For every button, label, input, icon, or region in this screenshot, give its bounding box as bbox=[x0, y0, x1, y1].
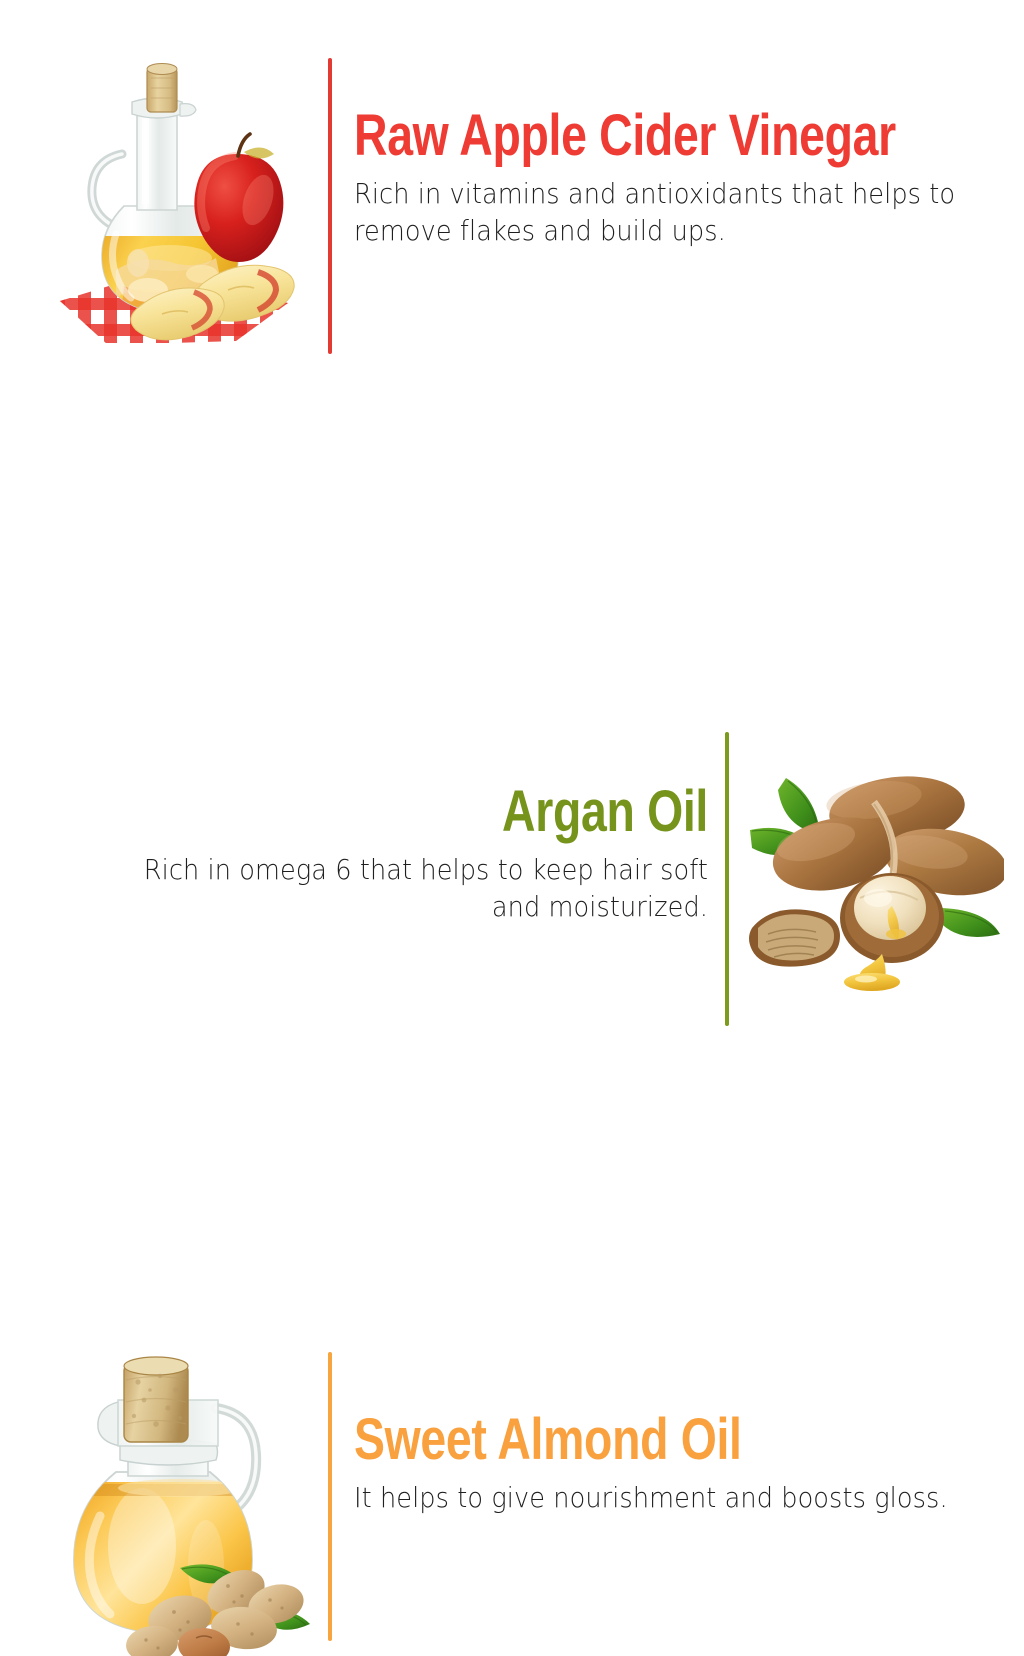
section-title-acv: Raw Apple Cider Vinegar bbox=[354, 108, 882, 164]
section-sweet-almond-oil: Sweet Almond Oil It helps to give nouris… bbox=[0, 670, 1024, 1024]
divider-rule-almond bbox=[328, 1352, 332, 1641]
section-argan-oil: Argan Oil Rich in omega 6 that helps to … bbox=[0, 360, 1024, 680]
text-block-almond: Sweet Almond Oil It helps to give nouris… bbox=[354, 1412, 1014, 1517]
apple-cider-vinegar-bottle-image bbox=[52, 58, 312, 343]
text-block-acv: Raw Apple Cider Vinegar Rich in vitamins… bbox=[354, 108, 1014, 249]
red-apple bbox=[194, 134, 283, 262]
section-description-almond: It helps to give nourishment and boosts … bbox=[354, 1468, 968, 1517]
section-raw-apple-cider-vinegar: Raw Apple Cider Vinegar Rich in vitamins… bbox=[0, 0, 1024, 360]
sweet-almond-oil-bottle-image bbox=[56, 1356, 318, 1656]
cork-stopper bbox=[124, 1357, 188, 1442]
section-title-almond: Sweet Almond Oil bbox=[354, 1412, 882, 1468]
cork-stopper bbox=[147, 64, 177, 113]
section-description-acv: Rich in vitamins and antioxidants that h… bbox=[354, 164, 968, 250]
infographic-board: Raw Apple Cider Vinegar Rich in vitamins… bbox=[0, 0, 1024, 1024]
divider-rule-acv bbox=[328, 58, 332, 354]
